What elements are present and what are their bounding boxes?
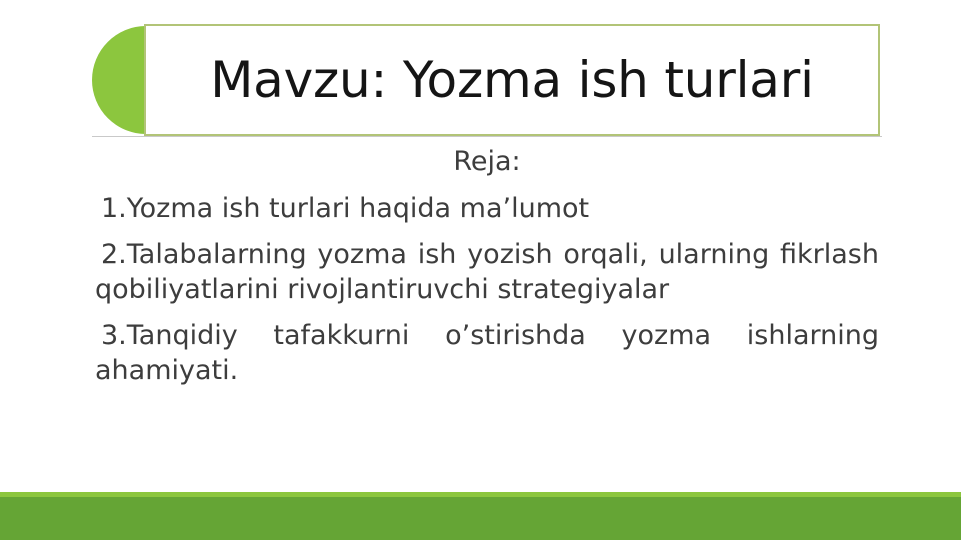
footer-green-bar	[0, 497, 961, 540]
title-underline-rule	[92, 136, 882, 137]
slide-canvas: Mavzu: Yozma ish turlari Reja: 1.Yozma i…	[0, 0, 961, 540]
agenda-item-1: 1.Yozma ish turlari haqida ma’lumot	[95, 191, 879, 226]
agenda-item-3: 3.Tanqidiy tafakkurni o’stirishda yozma …	[95, 318, 879, 388]
slide-title-area: Mavzu: Yozma ish turlari	[0, 0, 961, 150]
page-title: Mavzu: Yozma ish turlari	[210, 54, 814, 107]
body-heading: Reja:	[95, 144, 879, 179]
agenda-item-2: 2.Talabalarning yozma ish yozish orqali,…	[95, 237, 879, 307]
title-outline-box: Mavzu: Yozma ish turlari	[144, 24, 880, 136]
green-semicircle-shape	[92, 26, 146, 134]
slide-body: Reja: 1.Yozma ish turlari haqida ma’lumo…	[95, 144, 879, 389]
